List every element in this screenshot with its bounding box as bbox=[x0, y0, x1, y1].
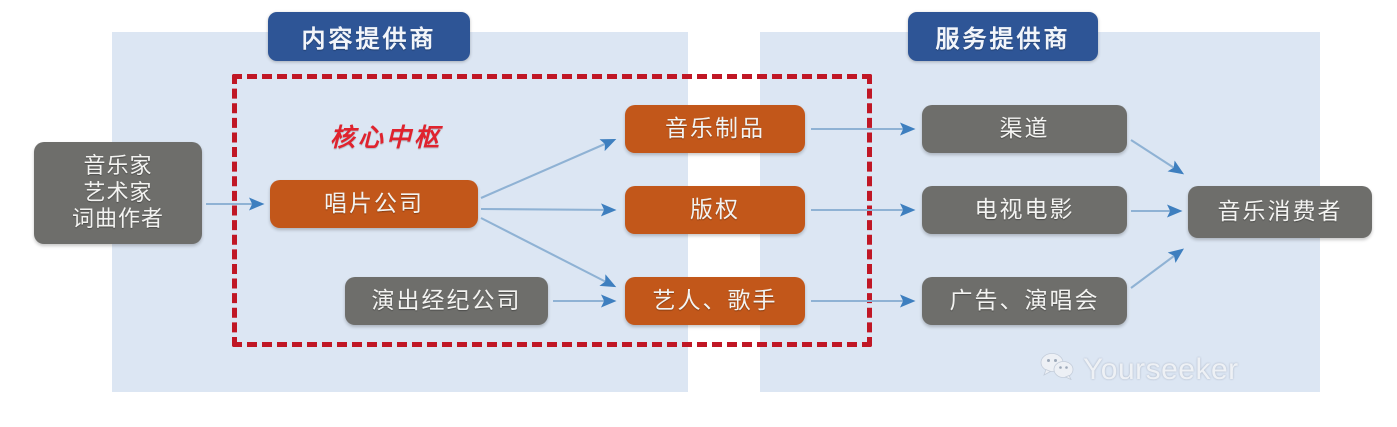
diagram-canvas: 内容提供商 服务提供商 核心中枢 音乐家 艺术家 词曲作者 唱片公司 演出经纪公… bbox=[0, 0, 1397, 427]
wechat-icon bbox=[1040, 352, 1074, 388]
core-hub-caption: 核心中枢 bbox=[330, 118, 442, 154]
node-ads-concerts: 广告、演唱会 bbox=[922, 277, 1127, 325]
node-tv-film: 电视电影 bbox=[922, 186, 1127, 234]
watermark: Yourseeker bbox=[1040, 352, 1239, 388]
node-performance-agency: 演出经纪公司 bbox=[345, 277, 548, 325]
node-creators-line-2: 艺术家 bbox=[83, 180, 152, 207]
watermark-text: Yourseeker bbox=[1083, 353, 1239, 387]
node-copyright: 版权 bbox=[625, 186, 805, 234]
node-artists-singers: 艺人、歌手 bbox=[625, 277, 805, 325]
node-creators-line-1: 音乐家 bbox=[83, 153, 152, 180]
node-creators: 音乐家 艺术家 词曲作者 bbox=[34, 142, 202, 244]
node-music-products: 音乐制品 bbox=[625, 105, 805, 153]
header-content-provider: 内容提供商 bbox=[268, 12, 470, 61]
node-creators-line-3: 词曲作者 bbox=[72, 206, 164, 233]
node-music-consumers: 音乐消费者 bbox=[1188, 186, 1372, 238]
header-service-provider: 服务提供商 bbox=[908, 12, 1098, 61]
node-channel: 渠道 bbox=[922, 105, 1127, 153]
node-record-label-company: 唱片公司 bbox=[270, 180, 478, 228]
